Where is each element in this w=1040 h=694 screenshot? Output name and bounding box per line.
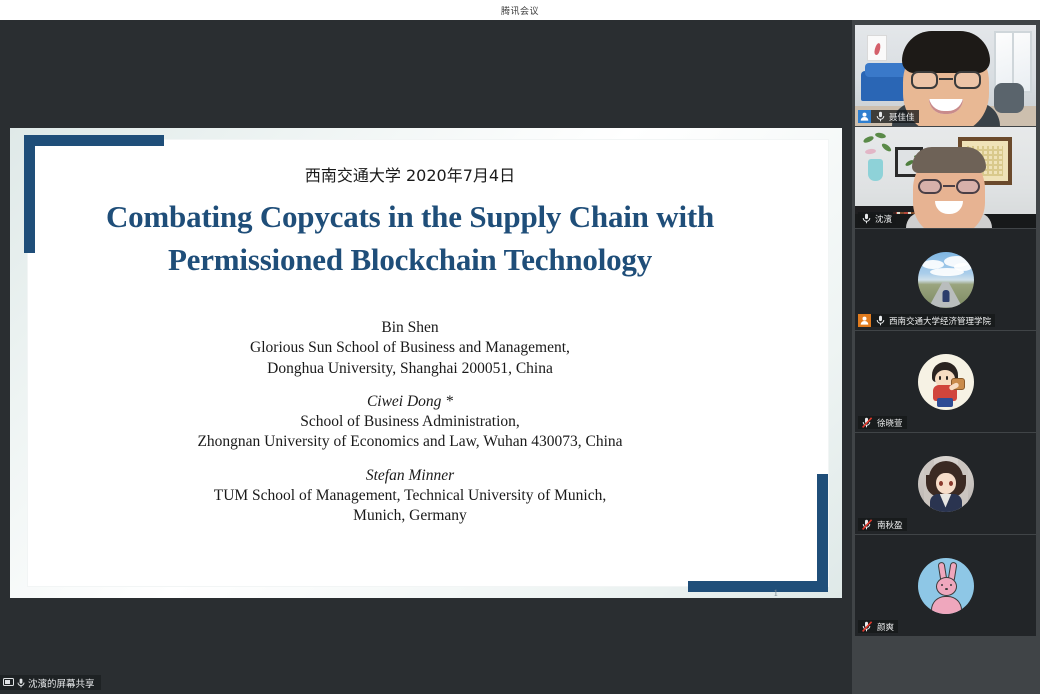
author-name: Bin Shen — [50, 318, 770, 338]
app-title: 腾讯会议 — [501, 4, 539, 17]
participant-name: 聂佳佳 — [887, 111, 915, 123]
participant-name: 西南交通大学经济管理学院 — [887, 315, 991, 327]
microphone-icon — [17, 678, 25, 688]
microphone-icon — [873, 111, 885, 122]
slide-page-number: 1 — [774, 588, 779, 598]
participant-name-badge: 聂佳佳 — [858, 110, 919, 123]
microphone-icon — [858, 213, 871, 224]
screen-share-status-bar: 沈濱的屏幕共享 — [0, 675, 101, 690]
participant-name-badge: 徐晓萱 — [858, 416, 907, 429]
participant-name: 徐晓萱 — [875, 417, 903, 429]
participant-name-badge: 颜爽 — [858, 620, 898, 633]
avatar-image-road — [918, 252, 974, 308]
author-affiliation-line: Munich, Germany — [50, 506, 770, 526]
window-title-bar: 腾讯会议 — [0, 0, 1040, 20]
participant-tile[interactable]: 徐晓萱 — [855, 331, 1036, 432]
author-affiliation-line: TUM School of Management, Technical Univ… — [50, 486, 770, 506]
microphone-muted-icon — [858, 417, 873, 428]
shared-screen-stage[interactable]: 西南交通大学 2020年7月4日 Combating Copycats in t… — [0, 20, 852, 694]
author-affiliation-line: Donghua University, Shanghai 200051, Chi… — [50, 359, 770, 379]
microphone-icon — [873, 315, 885, 326]
participant-tile[interactable]: 西南交通大学经济管理学院 — [855, 229, 1036, 330]
participant-tile[interactable]: 聂佳佳 — [855, 25, 1036, 126]
screen-share-owner-label: 沈濱的屏幕共享 — [28, 676, 95, 690]
author-name: Ciwei Dong * — [50, 392, 770, 412]
meeting-window: 腾讯会议 西南交通大学 2020年7月4日 Combating Copycats… — [0, 0, 1040, 694]
author-affiliation-line: School of Business Administration, — [50, 412, 770, 432]
participant-name-badge: 南秋盈 — [858, 518, 907, 531]
slide-title: Combating Copycats in the Supply Chain w… — [50, 196, 770, 282]
slide-date-line: 西南交通大学 2020年7月4日 — [10, 162, 810, 186]
microphone-muted-icon — [858, 621, 873, 632]
participant-name: 沈濱 — [873, 213, 892, 225]
participant-tile[interactable]: 沈濱 — [855, 127, 1036, 228]
avatar-image-anime — [918, 456, 974, 512]
participant-name: 南秋盈 — [875, 519, 903, 531]
author-entry: Stefan MinnerTUM School of Management, T… — [50, 466, 770, 527]
author-name: Stefan Minner — [50, 466, 770, 486]
author-entry: Ciwei Dong *School of Business Administr… — [50, 392, 770, 453]
video-on-icon — [858, 110, 871, 123]
presentation-slide: 西南交通大学 2020年7月4日 Combating Copycats in t… — [10, 128, 842, 598]
author-affiliation-line: Zhongnan University of Economics and Law… — [50, 432, 770, 452]
screen-share-icon — [3, 678, 14, 687]
author-affiliation-line: Glorious Sun School of Business and Mana… — [50, 338, 770, 358]
participant-name-badge: 西南交通大学经济管理学院 — [858, 314, 995, 327]
author-entry: Bin ShenGlorious Sun School of Business … — [50, 318, 770, 379]
participant-name: 颜爽 — [875, 621, 894, 633]
participant-tile[interactable]: 颜爽 — [855, 535, 1036, 636]
participant-tile[interactable]: 南秋盈 — [855, 433, 1036, 534]
participant-video-rail[interactable]: 聂佳佳沈濱西南交通大学经济管理学院徐晓萱南秋盈颜爽 — [852, 20, 1040, 694]
participant-name-badge: 沈濱 — [858, 212, 896, 225]
microphone-muted-icon — [858, 519, 873, 530]
slide-author-list: Bin ShenGlorious Sun School of Business … — [50, 318, 770, 527]
avatar-image-cartoon-kid — [918, 354, 974, 410]
host-icon — [858, 314, 871, 327]
avatar-image-rabbit — [918, 558, 974, 614]
